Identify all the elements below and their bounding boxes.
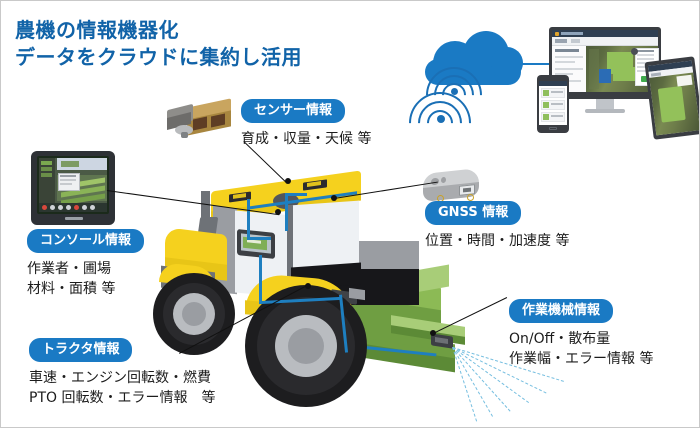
callout-tractor-pill[interactable]: トラクタ情報 [29,338,132,362]
tablet [644,56,700,140]
callout-sensor-pill[interactable]: センサー情報 [241,99,345,123]
callout-implement-line-2: 作業幅・エラー情報 等 [509,349,653,369]
cable-to-display [247,237,271,240]
leader-dot-tractor [305,283,311,289]
callout-gnss-pill[interactable]: GNSS 情報 [425,201,521,225]
title-line-2: データをクラウドに集約し活用 [15,44,435,71]
cable-dome-link [285,193,307,196]
callout-console: コンソール情報 作業者・圃場 材料・面積 等 [27,229,144,299]
leader-dot-console [275,209,281,215]
cable-roof-down-mid [285,193,288,231]
page-title: 農機の情報機器化 データをクラウドに集約し活用 [15,17,435,71]
callout-console-pill[interactable]: コンソール情報 [27,229,144,253]
callout-console-line-1: 作業者・圃場 [27,259,144,279]
callout-implement-pill[interactable]: 作業機械情報 [509,299,613,323]
leader-dot-gnss [331,195,337,201]
leader-dot-sensor [285,178,291,184]
callout-gnss-line-1: 位置・時間・加速度 等 [425,231,569,251]
crop-sensor-device [161,99,237,141]
diagram-canvas: 農機の情報機器化 データをクラウドに集約し活用 [0,0,700,428]
callout-console-line-2: 材料・面積 等 [27,279,144,299]
callout-implement-line-1: On/Off・散布量 [509,329,653,349]
tractor-console-terminal [31,151,115,225]
leader-dot-implement [430,330,436,336]
callout-gnss: GNSS 情報 位置・時間・加速度 等 [425,201,569,251]
title-line-1: 農機の情報機器化 [15,17,435,44]
callout-tractor: トラクタ情報 車速・エンジン回転数・燃費 PTO 回転数・エラー情報 等 [29,338,215,408]
smartphone [537,75,569,133]
callout-tractor-line-2: PTO 回転数・エラー情報 等 [29,388,215,408]
cable-display-down [259,255,262,301]
cable-roof-down-left [247,199,250,239]
callout-sensor-line-1: 育成・収量・天候 等 [241,129,371,149]
callout-tractor-line-1: 車速・エンジン回転数・燃費 [29,368,215,388]
callout-sensor: センサー情報 育成・収量・天候 等 [241,99,371,149]
callout-implement: 作業機械情報 On/Off・散布量 作業幅・エラー情報 等 [509,299,653,369]
wifi-signal-icon [409,113,449,149]
